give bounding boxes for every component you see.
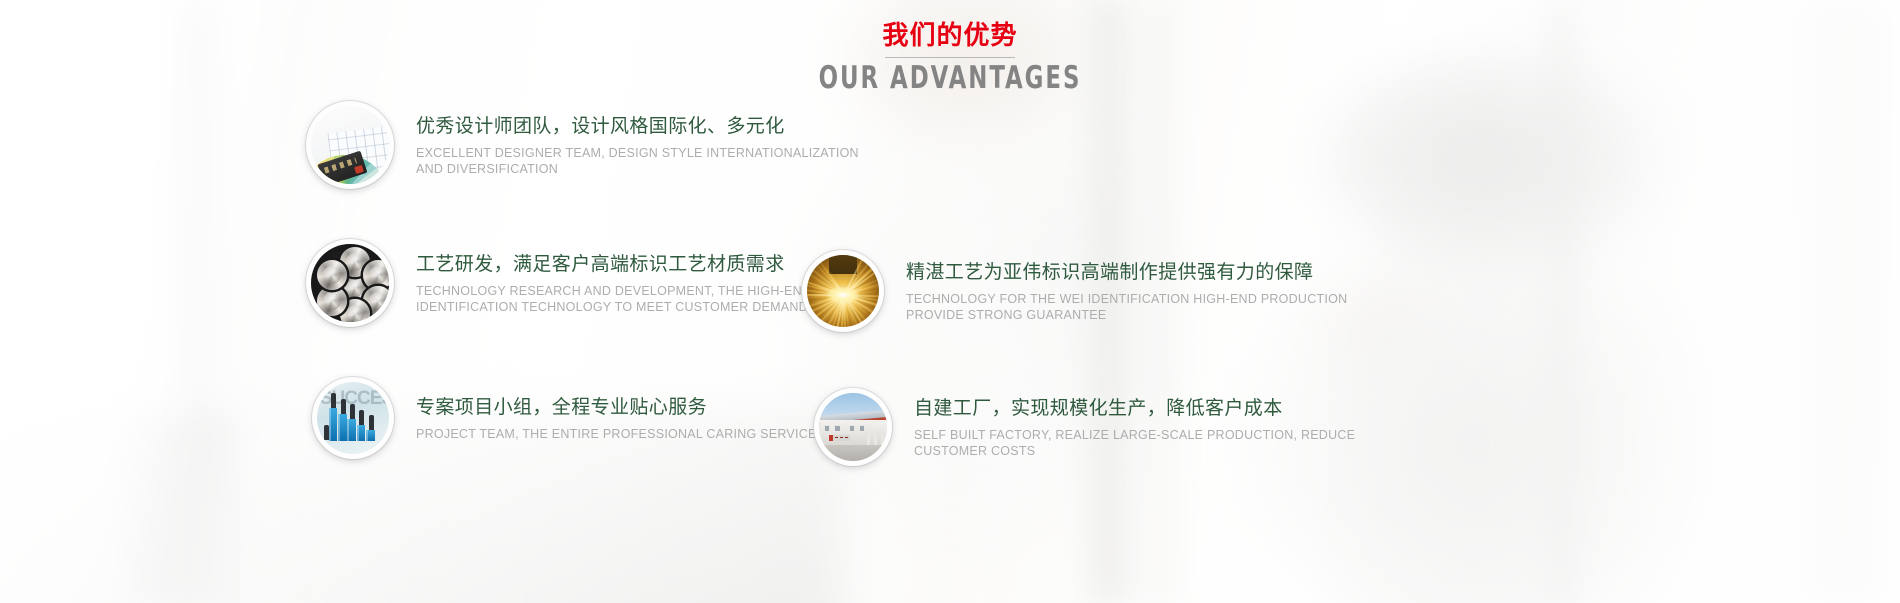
advantage-item-project-team[interactable]: SUCCESS 专案项目小组，全程专业贴心服务 PROJECT TEAM, TH… [312,377,825,459]
title-divider [885,57,1015,58]
advantage-item-technology-rd[interactable]: 工艺研发，满足客户高端标识工艺材质需求 TECHNOLOGY RESEARCH … [306,239,879,327]
advantage-item-designer-team[interactable]: 优秀设计师团队，设计风格国际化、多元化 EXCELLENT DESIGNER T… [306,101,859,189]
advantage-item-craftsmanship[interactable]: 精湛工艺为亚伟标识高端制作提供强有力的保障 TECHNOLOGY FOR THE… [802,250,1347,332]
advantage-title: 自建工厂，实现规模化生产，降低客户成本 [914,396,1355,422]
color-swatch-blueprint-icon [306,101,394,189]
advantage-copy: 自建工厂，实现规模化生产，降低客户成本 SELF BUILT FACTORY, … [892,396,1355,459]
section-header: 我们的优势 OUR ADVANTAGES [0,18,1900,96]
advantages-section: 我们的优势 OUR ADVANTAGES 优秀设计师团队，设计风格国际化、多元化… [0,0,1900,603]
advantage-subtitle: SELF BUILT FACTORY, REALIZE LARGE-SCALE … [914,427,1355,459]
advantage-copy: 专案项目小组，全程专业贴心服务 PROJECT TEAM, THE ENTIRE… [394,395,825,442]
success-chart-icon: SUCCESS [312,377,394,459]
advantage-title: 精湛工艺为亚伟标识高端制作提供强有力的保障 [906,260,1347,286]
section-title-cn: 我们的优势 [0,18,1900,52]
laser-sparks-icon [802,250,884,332]
section-title-en: OUR ADVANTAGES [171,60,1729,96]
advantage-subtitle: TECHNOLOGY FOR THE WEI IDENTIFICATION HI… [906,291,1347,323]
advantage-subtitle: PROJECT TEAM, THE ENTIRE PROFESSIONAL CA… [416,426,825,442]
advantage-title: 专案项目小组，全程专业贴心服务 [416,395,825,421]
advantage-subtitle: EXCELLENT DESIGNER TEAM, DESIGN STYLE IN… [416,145,859,177]
advantage-copy: 优秀设计师团队，设计风格国际化、多元化 EXCELLENT DESIGNER T… [394,114,859,177]
metal-tubes-icon [306,239,394,327]
advantage-copy: 精湛工艺为亚伟标识高端制作提供强有力的保障 TECHNOLOGY FOR THE… [884,260,1347,323]
factory-building-icon [814,388,892,466]
advantage-title: 优秀设计师团队，设计风格国际化、多元化 [416,114,859,140]
advantage-item-own-factory[interactable]: 自建工厂，实现规模化生产，降低客户成本 SELF BUILT FACTORY, … [814,388,1355,466]
